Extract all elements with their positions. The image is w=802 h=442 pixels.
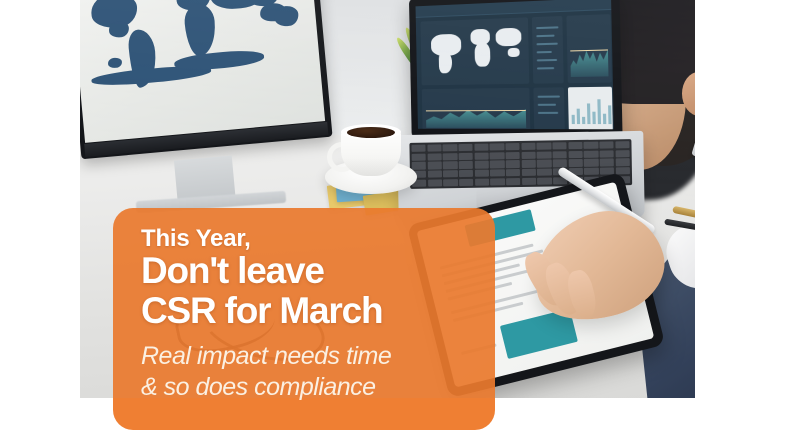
- card-headline-2: CSR for March: [141, 292, 469, 330]
- promo-card-content: This Year, Don't leave CSR for March Rea…: [113, 208, 495, 430]
- card-headline-1: Don't leave: [141, 252, 469, 290]
- coffee-liquid: [347, 127, 395, 138]
- card-kicker: This Year,: [141, 226, 469, 251]
- laptop-lid: [409, 0, 623, 139]
- card-subline-2: & so does compliance: [141, 373, 469, 402]
- banner-canvas: This Year, Don't leave CSR for March Rea…: [0, 0, 802, 442]
- monitor-screen: [80, 0, 325, 143]
- promo-card: This Year, Don't leave CSR for March Rea…: [113, 208, 495, 430]
- card-subline-1: Real impact needs time: [141, 342, 469, 371]
- laptop-screen: [416, 0, 614, 129]
- desktop-monitor: [80, 0, 333, 159]
